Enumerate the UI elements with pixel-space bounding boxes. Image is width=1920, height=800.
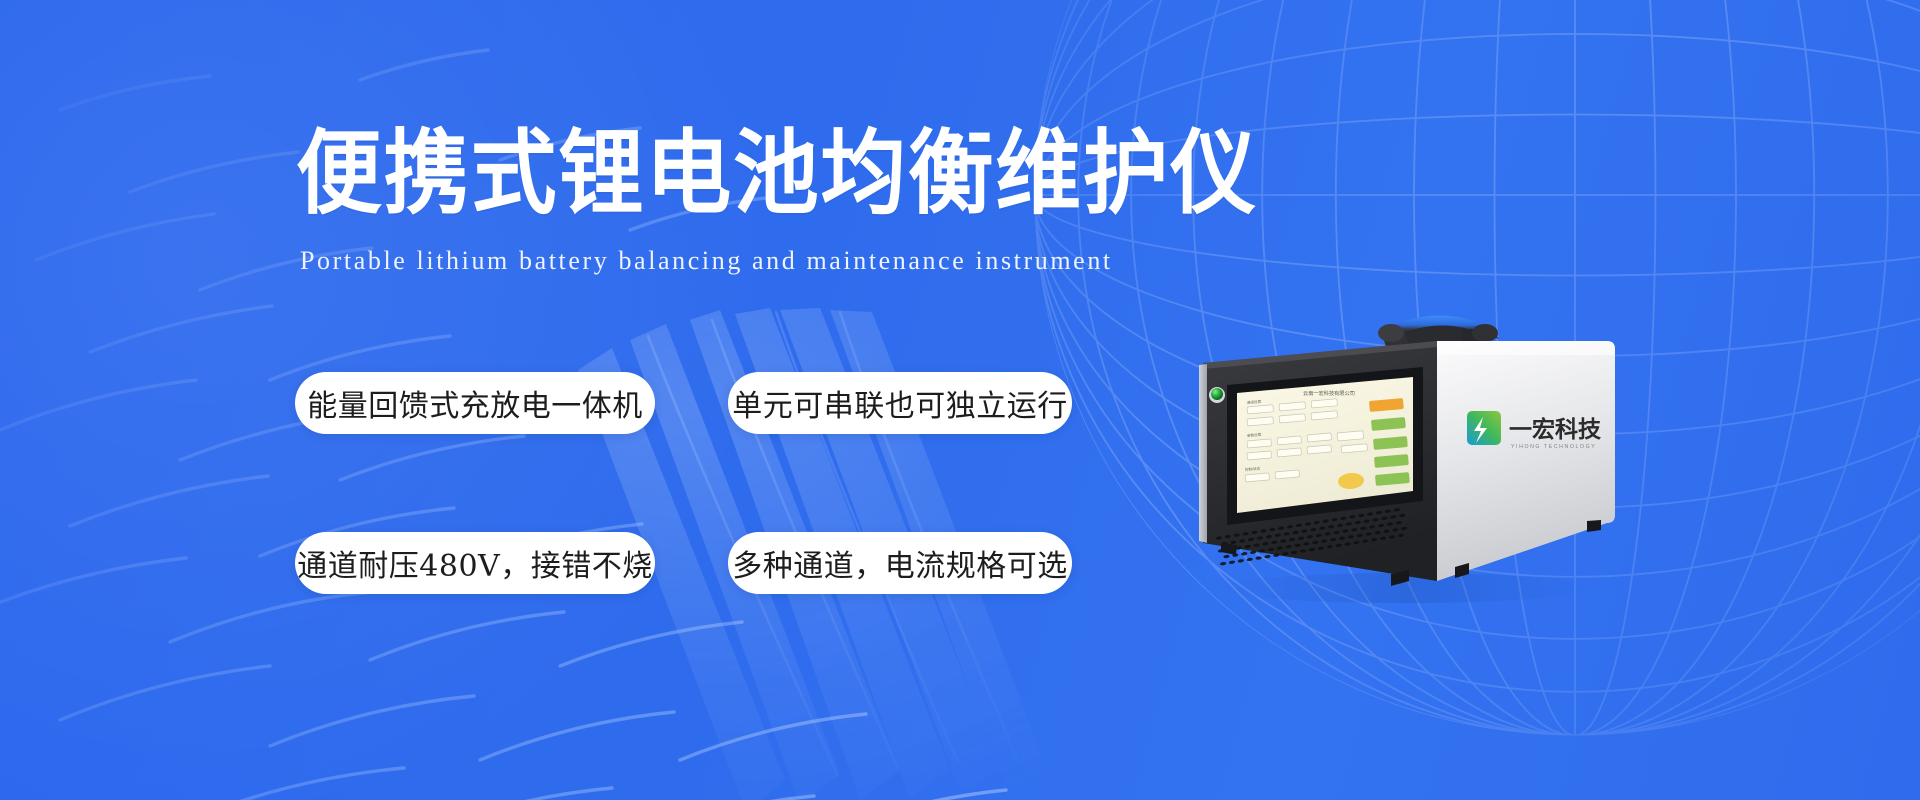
device-left-edge [1199,364,1207,543]
brand-logo-pinyin: YIHONG TECHNOLOGY [1511,444,1596,450]
brand-logo-text: 一宏科技 [1509,416,1602,443]
feature-pill-label: 通道耐压480V，接错不烧 [297,541,652,585]
page-subtitle: Portable lithium battery balancing and m… [300,248,1113,274]
product-device-image: 一宏科技 YIHONG TECHNOLOGY 云南一宏科技有限公司 [1155,285,1635,615]
device-body [1437,341,1615,581]
power-indicator-icon[interactable] [1211,388,1223,400]
feature-pill[interactable]: 单元可串联也可独立运行 [728,372,1072,434]
banner-root: 便携式锂电池均衡维护仪 Portable lithium battery bal… [0,0,1920,800]
feature-pill[interactable]: 能量回馈式充放电一体机 [295,372,655,434]
feature-pill[interactable]: 多种通道，电流规格可选 [728,532,1072,594]
feature-pill-label: 多种通道，电流规格可选 [732,541,1068,585]
feature-pill-label: 能量回馈式充放电一体机 [307,381,643,425]
feature-pill-label: 单元可串联也可独立运行 [732,381,1068,425]
feature-pill[interactable]: 通道耐压480V，接错不烧 [295,532,655,594]
device-body-highlight [1437,341,1615,355]
device-screen[interactable]: 云南一宏科技有限公司 通道设置 [1237,377,1413,513]
screen-header: 云南一宏科技有限公司 [1303,389,1355,397]
brand-logo: 一宏科技 YIHONG TECHNOLOGY [1467,411,1602,450]
page-title: 便携式锂电池均衡维护仪 [296,128,1258,220]
